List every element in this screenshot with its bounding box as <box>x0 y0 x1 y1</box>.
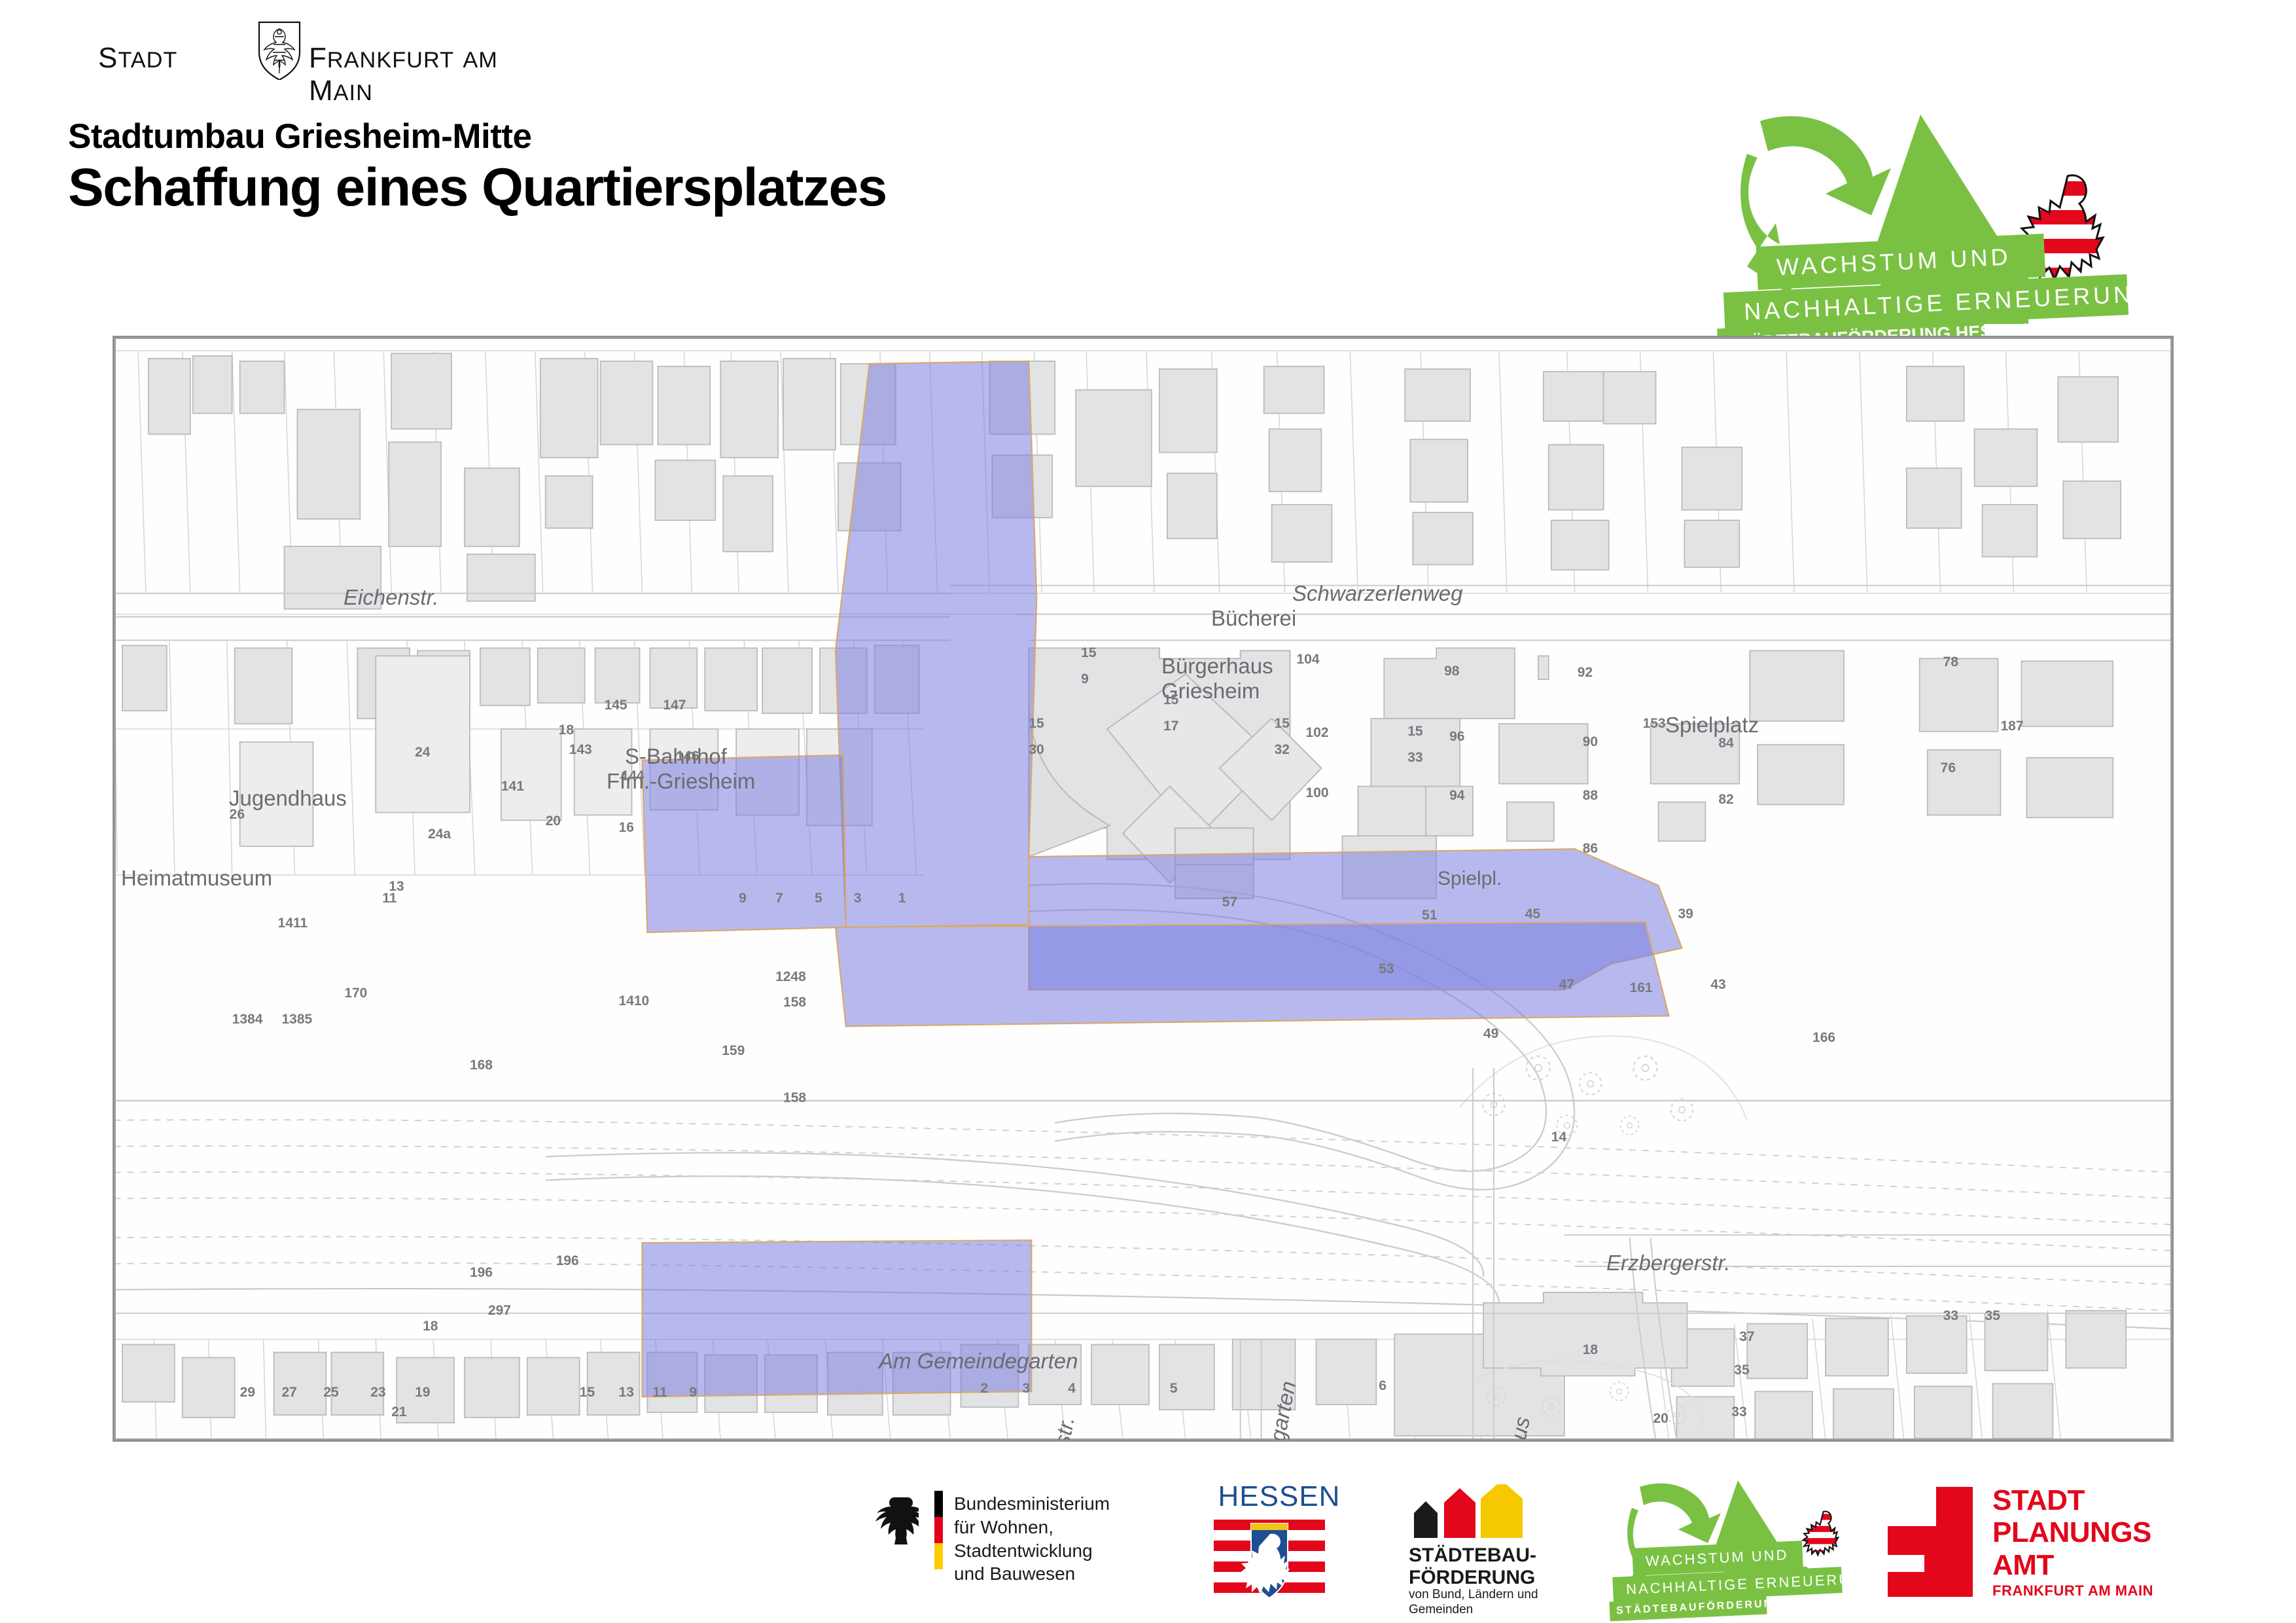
three-houses-icon <box>1409 1484 1527 1538</box>
parcel-number: 5 <box>815 891 822 906</box>
parcel-number: 39 <box>1678 906 1693 922</box>
staedtebau-line-3: von Bund, Ländern und <box>1409 1588 1538 1603</box>
parcel-number: 15 <box>1407 724 1422 740</box>
parcel-number: 102 <box>1306 725 1329 741</box>
street-label-am-gemeindegarten: Am Gemeindegarten <box>879 1349 1078 1374</box>
wachstum-footer-logo: WACHSTUM UND NACHHALTIGE ERNEUERUNG STÄD… <box>1610 1484 1871 1599</box>
parcel-number: 1410 <box>619 993 650 1009</box>
bmwsb-line-1: Bundesministerium <box>954 1492 1178 1516</box>
hessen-shield-icon <box>1214 1518 1325 1601</box>
poi-label-buergerhaus: Bürgerhaus <box>1161 654 1273 679</box>
parcel-number: 78 <box>1943 654 1958 670</box>
parcel-number: 9 <box>739 891 747 906</box>
parcel-number: 3 <box>1022 1381 1030 1397</box>
street-label-erzbergerstr: Erzbergerstr. <box>1606 1251 1731 1275</box>
parcel-number: 82 <box>1718 792 1733 808</box>
poi-label-heimatmuseum: Heimatmuseum <box>121 866 272 891</box>
parcel-number: 1385 <box>282 1012 313 1027</box>
parcel-number: 7 <box>775 891 783 906</box>
parcel-number: 98 <box>1444 664 1459 679</box>
staedtebau-title: STÄDTEBAU- FÖRDERUNG <box>1409 1544 1536 1588</box>
parcel-number: 2 <box>980 1381 988 1397</box>
parcel-number: 196 <box>470 1265 493 1281</box>
staedtebau-line-2: FÖRDERUNG <box>1409 1567 1536 1589</box>
parcel-number: 158 <box>783 995 806 1010</box>
parcel-number: 4 <box>1068 1381 1076 1397</box>
german-flag-bar-icon <box>934 1491 943 1569</box>
stadtplanungsamt-mark-icon <box>1888 1487 1973 1597</box>
city-logo-word-frankfurt: FRANKFURT AM MAIN <box>309 42 517 107</box>
parcel-number: 9 <box>1081 671 1089 687</box>
parcel-number: 35 <box>1985 1308 2000 1324</box>
parcel-number: 76 <box>1941 760 1956 776</box>
parcel-number: 90 <box>1583 734 1598 750</box>
staedtebau-line-4: Gemeinden <box>1409 1603 1538 1618</box>
parcel-number: 19 <box>415 1385 430 1400</box>
parcel-number: 5 <box>1170 1381 1178 1397</box>
bundesadler-icon <box>870 1495 919 1550</box>
parcel-number: 187 <box>2000 719 2023 734</box>
parcel-number: 1248 <box>775 969 806 985</box>
page-title: Schaffung eines Quartiersplatzes <box>68 157 887 219</box>
parcel-number: 33 <box>1943 1308 1958 1324</box>
parcel-number: 18 <box>1583 1342 1598 1358</box>
staedtebaufoerderung-logo: STÄDTEBAU- FÖRDERUNG von Bund, Ländern u… <box>1397 1484 1580 1596</box>
hessen-lion-icon <box>1798 1508 1839 1571</box>
poi-label-buecherei: Bücherei <box>1211 606 1296 631</box>
parcel-number: 94 <box>1449 788 1464 804</box>
parcel-number: 88 <box>1583 788 1598 804</box>
spa-title: STADT PLANUNGS AMT <box>1992 1484 2151 1581</box>
footer-logos: Bundesministerium für Wohnen, Stadtentwi… <box>0 1479 2296 1610</box>
parcel-number: 53 <box>1379 961 1394 977</box>
parcel-number: 17 <box>1163 719 1178 734</box>
spa-line-2: PLANUNGS <box>1992 1516 2151 1548</box>
bmwsb-logo: Bundesministerium für Wohnen, Stadtentwi… <box>870 1486 1178 1584</box>
parcel-number: 104 <box>1297 652 1320 668</box>
staedtebau-line-1: STÄDTEBAU- <box>1409 1544 1536 1567</box>
parcel-number: 51 <box>1422 908 1437 923</box>
parcel-number: 21 <box>391 1404 406 1420</box>
parcel-number: 153 <box>1643 716 1666 732</box>
parcel-number: 196 <box>556 1253 579 1269</box>
parcel-number: 84 <box>1718 736 1733 751</box>
parcel-number: 158 <box>783 1090 806 1106</box>
city-logo-word-stadt: STADT <box>98 42 177 75</box>
parcel-number: 13 <box>389 879 404 895</box>
map-vector-layer <box>115 338 2172 1440</box>
parcel-number: 15 <box>1275 716 1290 732</box>
parcel-number: 32 <box>1275 742 1290 758</box>
parcel-number: 145 <box>605 698 627 713</box>
parcel-number: 1411 <box>278 916 308 931</box>
parcel-number: 147 <box>663 698 686 713</box>
parcel-number: 20 <box>546 813 561 829</box>
parcel-number: 29 <box>240 1385 255 1400</box>
parcel-number: 297 <box>488 1303 511 1319</box>
parcel-number: 161 <box>1630 980 1653 996</box>
parcel-number: 57 <box>1222 895 1237 910</box>
parcel-number: 144 <box>622 768 645 784</box>
parcel-number: 23 <box>370 1385 385 1400</box>
hessen-wordmark: HESSEN <box>1214 1480 1345 1513</box>
poi-label-spielpl: Spielpl. <box>1438 868 1502 890</box>
stadtplanungsamt-logo: STADT PLANUNGS AMT FRANKFURT AM MAIN <box>1888 1484 2228 1602</box>
parcel-number: 159 <box>722 1043 745 1059</box>
parcel-number: 18 <box>559 722 574 738</box>
page-subtitle: Stadtumbau Griesheim-Mitte <box>68 116 531 156</box>
bmwsb-line-2: für Wohnen, Stadtentwicklung <box>954 1516 1178 1563</box>
parcel-number: 6 <box>1379 1378 1386 1394</box>
parcel-number: 24 <box>415 745 430 760</box>
parcel-number: 15 <box>1081 645 1096 661</box>
parcel-number: 37 <box>1739 1329 1754 1345</box>
parcel-number: 1384 <box>232 1012 263 1027</box>
city-logo: STADT FRANKFURT AM MAIN <box>98 31 517 79</box>
parcel-number: 49 <box>1483 1026 1498 1042</box>
spa-line-1: STADT <box>1992 1484 2151 1516</box>
parcel-number: 15 <box>1163 692 1178 708</box>
poi-label-jugendhaus: Jugendhaus <box>229 786 347 811</box>
parcel-number: 96 <box>1449 729 1464 745</box>
parcel-number: 1 <box>898 891 906 906</box>
parcel-number: 143 <box>569 742 592 758</box>
frankfurt-eagle-crest-icon <box>255 20 304 80</box>
staedtebau-subtitle: von Bund, Ländern und Gemeinden <box>1409 1588 1538 1618</box>
parcel-number: 86 <box>1583 841 1598 857</box>
street-label-schwarzerlenweg: Schwarzerlenweg <box>1292 581 1462 606</box>
parcel-number: 15 <box>1029 716 1044 732</box>
parcel-number: 11 <box>652 1385 667 1400</box>
parcel-number: 168 <box>470 1058 493 1073</box>
parcel-number: 25 <box>323 1385 338 1400</box>
parcel-number: 146 <box>676 749 699 764</box>
parcel-number: 27 <box>282 1385 297 1400</box>
parcel-number: 170 <box>344 986 367 1001</box>
parcel-number: 14 <box>1551 1130 1566 1145</box>
parcel-number: 100 <box>1306 785 1329 801</box>
parcel-number: 26 <box>230 807 245 823</box>
cadastral-map[interactable]: Eichenstr. Schwarzerlenweg Am Gemeindega… <box>113 336 2174 1442</box>
poi-label-spielplatz: Spielplatz <box>1665 713 1759 738</box>
street-label-eichenstr: Eichenstr. <box>344 585 439 610</box>
parcel-number: 18 <box>423 1319 438 1334</box>
hessen-logo: HESSEN <box>1214 1480 1345 1598</box>
parcel-number: 24a <box>428 827 451 842</box>
parcel-number: 13 <box>619 1385 634 1400</box>
parcel-number: 15 <box>580 1385 595 1400</box>
spa-line-3: AMT <box>1992 1549 2151 1581</box>
parcel-number: 3 <box>854 891 862 906</box>
parcel-number: 45 <box>1525 906 1540 922</box>
spa-subtitle: FRANKFURT AM MAIN <box>1992 1582 2153 1599</box>
bmwsb-text: Bundesministerium für Wohnen, Stadtentwi… <box>954 1492 1178 1586</box>
parcel-number: 43 <box>1710 977 1725 993</box>
parcel-number: 35 <box>1734 1363 1749 1378</box>
parcel-number: 20 <box>1653 1411 1669 1427</box>
parcel-number: 166 <box>1812 1030 1835 1046</box>
parcel-number: 30 <box>1029 742 1044 758</box>
parcel-number: 92 <box>1578 665 1593 681</box>
parcel-number: 47 <box>1559 977 1574 993</box>
bmwsb-line-3: und Bauwesen <box>954 1562 1178 1586</box>
parcel-number: 33 <box>1731 1404 1746 1420</box>
parcel-number: 16 <box>619 820 634 836</box>
parcel-number: 33 <box>1407 750 1422 766</box>
parcel-number: 141 <box>501 779 524 794</box>
parcel-number: 9 <box>689 1385 697 1400</box>
